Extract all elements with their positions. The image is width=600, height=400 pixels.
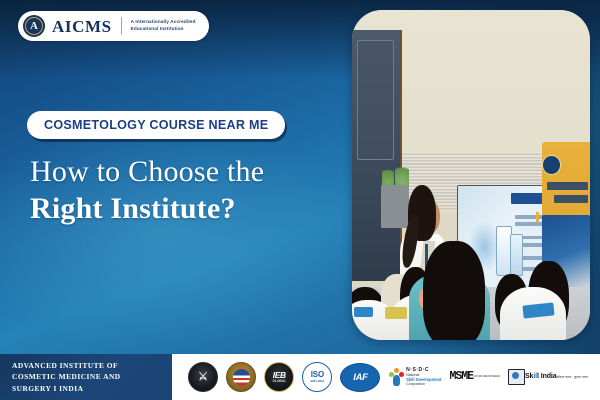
cert-iso-seal: ISO 9001:2015 (302, 362, 332, 392)
footer-institute-line3: SURGERY I INDIA (12, 383, 172, 394)
skill-india-sub: कौशल भारत - कुशल भारत (557, 375, 588, 379)
kicker-badge[interactable]: COSMETOLOGY COURSE NEAR ME (27, 111, 285, 139)
classroom-presentation-photo (352, 10, 590, 340)
photo-chair-sash (354, 307, 373, 317)
brand-logo-pill[interactable]: A AICMS A Internationally Accredited Edu… (18, 11, 209, 41)
photo-rollup-banner-text (554, 195, 587, 204)
nsdc-figures-icon (389, 368, 404, 386)
certification-logos: ⚔ IEB GLOBAL ISO 9001:2015 IAF (172, 354, 600, 400)
footer-bar: ADVANCED INSTITUTE OF COSMETIC MEDICINE … (0, 354, 600, 400)
photo-foreground-attendee-hair (423, 241, 485, 340)
brand-tagline: A Internationally Accredited Educational… (131, 19, 196, 32)
skill-india-label: Skill India (525, 373, 557, 382)
iaf-seal-icon: IAF (340, 363, 380, 392)
aicms-monogram-icon: A (23, 15, 45, 37)
logo-initial: A (30, 21, 38, 32)
nsdc-line3: Corporation (406, 382, 441, 386)
brand-name: AICMS (52, 18, 112, 35)
nsdc-text: N·S·D·C National Skill Development Corpo… (406, 367, 441, 386)
skill-india-emblem-icon (508, 369, 525, 385)
iaf-label: IAF (353, 372, 367, 383)
headline-line-2: Right Institute? (30, 191, 348, 228)
photo-rollup-banner-text (547, 182, 587, 191)
cert-medical-board-seal: ⚔ (188, 362, 218, 392)
cert-us-government-seal (226, 362, 256, 392)
ieb-label: IEB (273, 371, 286, 379)
photo-cabinet-door (357, 40, 395, 161)
headline-line-1: How to Choose the (30, 154, 348, 191)
cert-nsdc-logo: N·S·D·C National Skill Development Corpo… (389, 367, 442, 386)
footer-institute-line2: COSMETIC MEDICINE AND (12, 371, 172, 382)
photo-chair-sash (385, 307, 406, 319)
medical-board-seal-icon: ⚔ (188, 362, 218, 392)
ieb-sub: GLOBAL (273, 379, 286, 383)
footer-institute-name: ADVANCED INSTITUTE OF COSMETIC MEDICINE … (0, 354, 172, 400)
slide-product-bottle (510, 234, 523, 275)
cert-iaf-seal: IAF (340, 363, 380, 392)
ieb-seal-icon: IEB GLOBAL (264, 362, 294, 392)
msme-sub: UDYAM REGISTERED (473, 375, 500, 378)
brand-tagline-line2: Educational Institution (131, 26, 196, 33)
footer-institute-line1: ADVANCED INSTITUTE OF (12, 360, 172, 371)
slide-accent-mark (536, 212, 539, 223)
iso-label: ISO (311, 371, 324, 379)
kicker-label: COSMETOLOGY COURSE NEAR ME (44, 119, 268, 132)
logo-divider (121, 17, 122, 35)
cert-ieb-seal: IEB GLOBAL (264, 362, 294, 392)
us-government-seal-icon (226, 362, 256, 392)
iso-seal-icon: ISO 9001:2015 (302, 362, 332, 392)
msme-label: MSME (449, 370, 473, 384)
photo-planter (381, 185, 410, 228)
cert-skill-india-logo: Skill India कौशल भारत - कुशल भारत (508, 369, 588, 386)
page-title: How to Choose the Right Institute? (30, 154, 348, 227)
iso-sub: 9001:2015 (310, 379, 324, 383)
promo-banner: A AICMS A Internationally Accredited Edu… (0, 0, 600, 400)
cert-msme-logo: MSME UDYAM REGISTERED (449, 370, 499, 384)
